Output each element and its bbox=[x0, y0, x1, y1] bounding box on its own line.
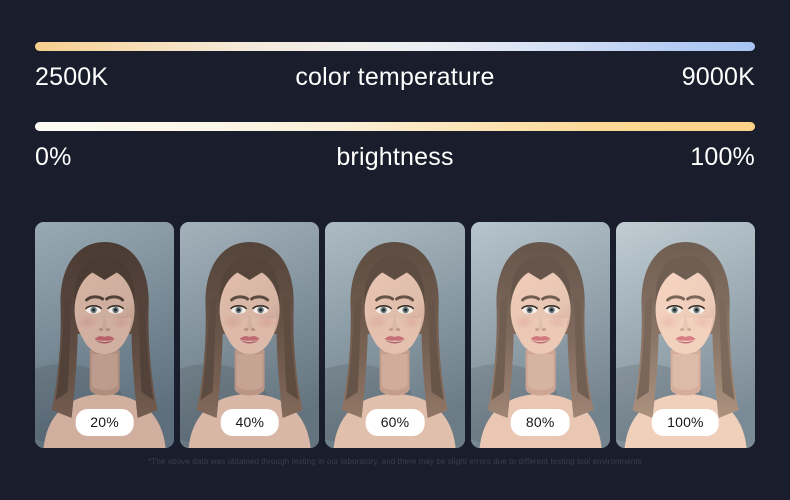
page-root: 2500K color temperature 9000K 0% brightn… bbox=[0, 0, 790, 500]
sample-card[interactable]: 100% bbox=[616, 222, 755, 448]
brightness-percent-badge: 80% bbox=[511, 409, 570, 436]
brightness-percent-badge: 40% bbox=[220, 409, 279, 436]
brightness-sample-strip: 20% bbox=[35, 222, 755, 448]
sample-card[interactable]: 80% bbox=[471, 222, 610, 448]
color-temperature-title: color temperature bbox=[295, 60, 494, 94]
brightness-gradient-bar[interactable] bbox=[35, 122, 755, 131]
brightness-percent-badge: 100% bbox=[652, 409, 719, 436]
brightness-title: brightness bbox=[336, 140, 453, 174]
color-temperature-min-label: 2500K bbox=[35, 60, 108, 94]
color-temperature-slider-group: 2500K color temperature 9000K bbox=[35, 42, 755, 94]
brightness-labels: 0% brightness 100% bbox=[35, 140, 755, 174]
sample-card[interactable]: 20% bbox=[35, 222, 174, 448]
color-temperature-max-label: 9000K bbox=[682, 60, 755, 94]
brightness-slider-group: 0% brightness 100% bbox=[35, 122, 755, 174]
brightness-percent-badge: 20% bbox=[75, 409, 134, 436]
sample-card[interactable]: 40% bbox=[180, 222, 319, 448]
footnote-disclaimer: *The above data was obtained through tes… bbox=[0, 456, 790, 468]
sample-card[interactable]: 60% bbox=[325, 222, 464, 448]
brightness-min-label: 0% bbox=[35, 140, 72, 174]
color-temperature-labels: 2500K color temperature 9000K bbox=[35, 60, 755, 94]
brightness-max-label: 100% bbox=[690, 140, 755, 174]
brightness-percent-badge: 60% bbox=[366, 409, 425, 436]
color-temperature-gradient-bar[interactable] bbox=[35, 42, 755, 51]
